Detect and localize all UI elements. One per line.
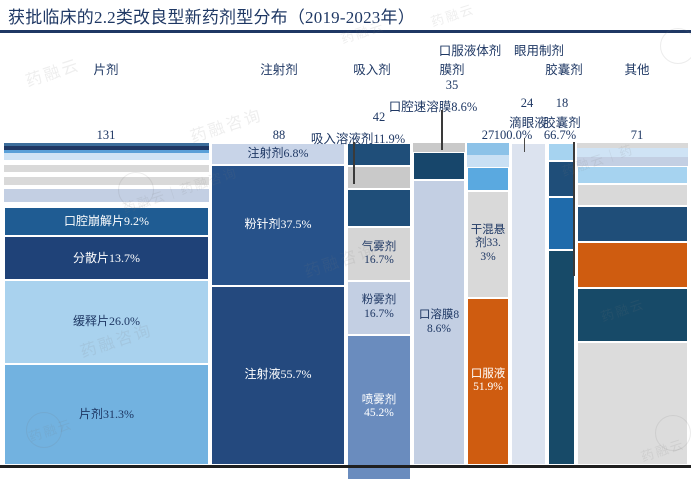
chart-segment[interactable]: 口腔崩解片9.2% (4, 207, 209, 237)
segment-label: 粉雾剂16.7% (348, 294, 410, 320)
chart-segment[interactable] (413, 152, 465, 180)
page-title: 获批临床的2.2类改良型新药剂型分布（2019-2023年） (8, 3, 415, 28)
chart-segment[interactable]: 粉雾剂16.7% (347, 281, 411, 335)
value-label: 35 (392, 78, 512, 93)
chart-segment[interactable] (347, 189, 411, 227)
column-header: 膜剂 (392, 59, 512, 78)
chart-column[interactable] (511, 143, 546, 465)
chart-segment[interactable]: 干混悬剂33.3% (467, 191, 509, 298)
chart-segment[interactable] (577, 342, 688, 465)
chart-segment[interactable] (577, 184, 688, 207)
chart-segment[interactable] (548, 197, 575, 250)
chart-segment[interactable] (467, 155, 509, 167)
chart-segment[interactable] (577, 148, 688, 157)
baseline-axis (0, 465, 691, 468)
chart-segment[interactable]: 喷雾剂45.2% (347, 335, 411, 480)
chart-segment[interactable] (577, 157, 688, 166)
chart-segment[interactable] (4, 153, 209, 160)
chart-segment[interactable] (467, 167, 509, 191)
chart-segment[interactable] (511, 143, 546, 465)
chart-segment[interactable] (467, 143, 509, 155)
segment-label: 口服液51.9% (468, 368, 508, 396)
chart-column[interactable]: 注射剂6.8%粉针剂37.5%注射液55.7% (211, 143, 345, 465)
chart-segment[interactable] (548, 161, 575, 197)
value-label: 131 (46, 128, 166, 143)
segment-label: 粉针剂37.5% (243, 218, 314, 232)
chart-segment[interactable] (548, 250, 575, 465)
column-header: 眼用制剂 (479, 40, 599, 59)
chart-column[interactable] (548, 143, 575, 465)
segment-label: 注射液55.7% (243, 368, 314, 382)
watermark-text: 药融云 (428, 0, 477, 30)
column-header: 片剂 (46, 59, 166, 78)
chart-segment[interactable]: 片剂31.3% (4, 364, 209, 465)
chart-segment[interactable]: 气雾剂16.7% (347, 227, 411, 281)
value-label: 71 (577, 128, 691, 143)
chart-segment[interactable]: 注射液55.7% (211, 286, 345, 465)
segment-label: 注射剂6.8% (246, 147, 311, 161)
chart-segment[interactable] (577, 288, 688, 342)
segment-label: 口溶膜88.6% (414, 309, 464, 337)
chart-segment[interactable] (4, 165, 209, 172)
chart-column[interactable]: 干混悬剂33.3%口服液51.9% (467, 143, 509, 465)
chart-column[interactable] (577, 143, 688, 465)
value-label: 18 (502, 96, 622, 111)
marimekko-chart: 口腔崩解片9.2%分散片13.7%缓释片26.0%片剂31.3%注射剂6.8%粉… (0, 143, 691, 465)
title-divider (0, 30, 691, 33)
chart-segment[interactable]: 粉针剂37.5% (211, 165, 345, 286)
chart-segment[interactable] (4, 189, 209, 201)
chart-segment[interactable] (347, 166, 411, 189)
chart-segment[interactable]: 分散片13.7% (4, 236, 209, 280)
leader-line-film (441, 110, 443, 150)
chart-column[interactable]: 口溶膜88.6% (413, 143, 465, 465)
value-label: 吸入溶液剂11.9% (298, 128, 418, 147)
chart-segment[interactable] (413, 143, 465, 152)
segment-label: 口腔崩解片9.2% (62, 215, 151, 229)
chart-segment[interactable]: 口溶膜88.6% (413, 180, 465, 465)
leader-line-capsule (573, 142, 575, 276)
segment-label: 干混悬剂33.3% (468, 224, 508, 265)
chart-segment[interactable] (577, 242, 688, 287)
segment-label: 气雾剂16.7% (348, 241, 410, 267)
leader-line-eye (524, 138, 525, 152)
segment-label: 缓释片26.0% (71, 315, 142, 329)
leader-line-inhalation (353, 142, 355, 184)
chart-column[interactable]: 气雾剂16.7%粉雾剂16.7%喷雾剂45.2% (347, 143, 411, 465)
chart-segment[interactable]: 口服液51.9% (467, 298, 509, 465)
column-header: 其他 (577, 59, 691, 78)
chart-segment[interactable]: 缓释片26.0% (4, 280, 209, 364)
segment-label: 片剂31.3% (77, 408, 136, 422)
chart-segment[interactable] (577, 166, 688, 184)
chart-segment[interactable] (548, 143, 575, 161)
segment-label: 分散片13.7% (71, 252, 142, 266)
segment-label: 喷雾剂45.2% (348, 394, 410, 420)
chart-segment[interactable] (577, 206, 688, 242)
chart-column[interactable]: 口腔崩解片9.2%分散片13.7%缓释片26.0%片剂31.3% (4, 143, 209, 465)
chart-segment[interactable] (4, 177, 209, 184)
